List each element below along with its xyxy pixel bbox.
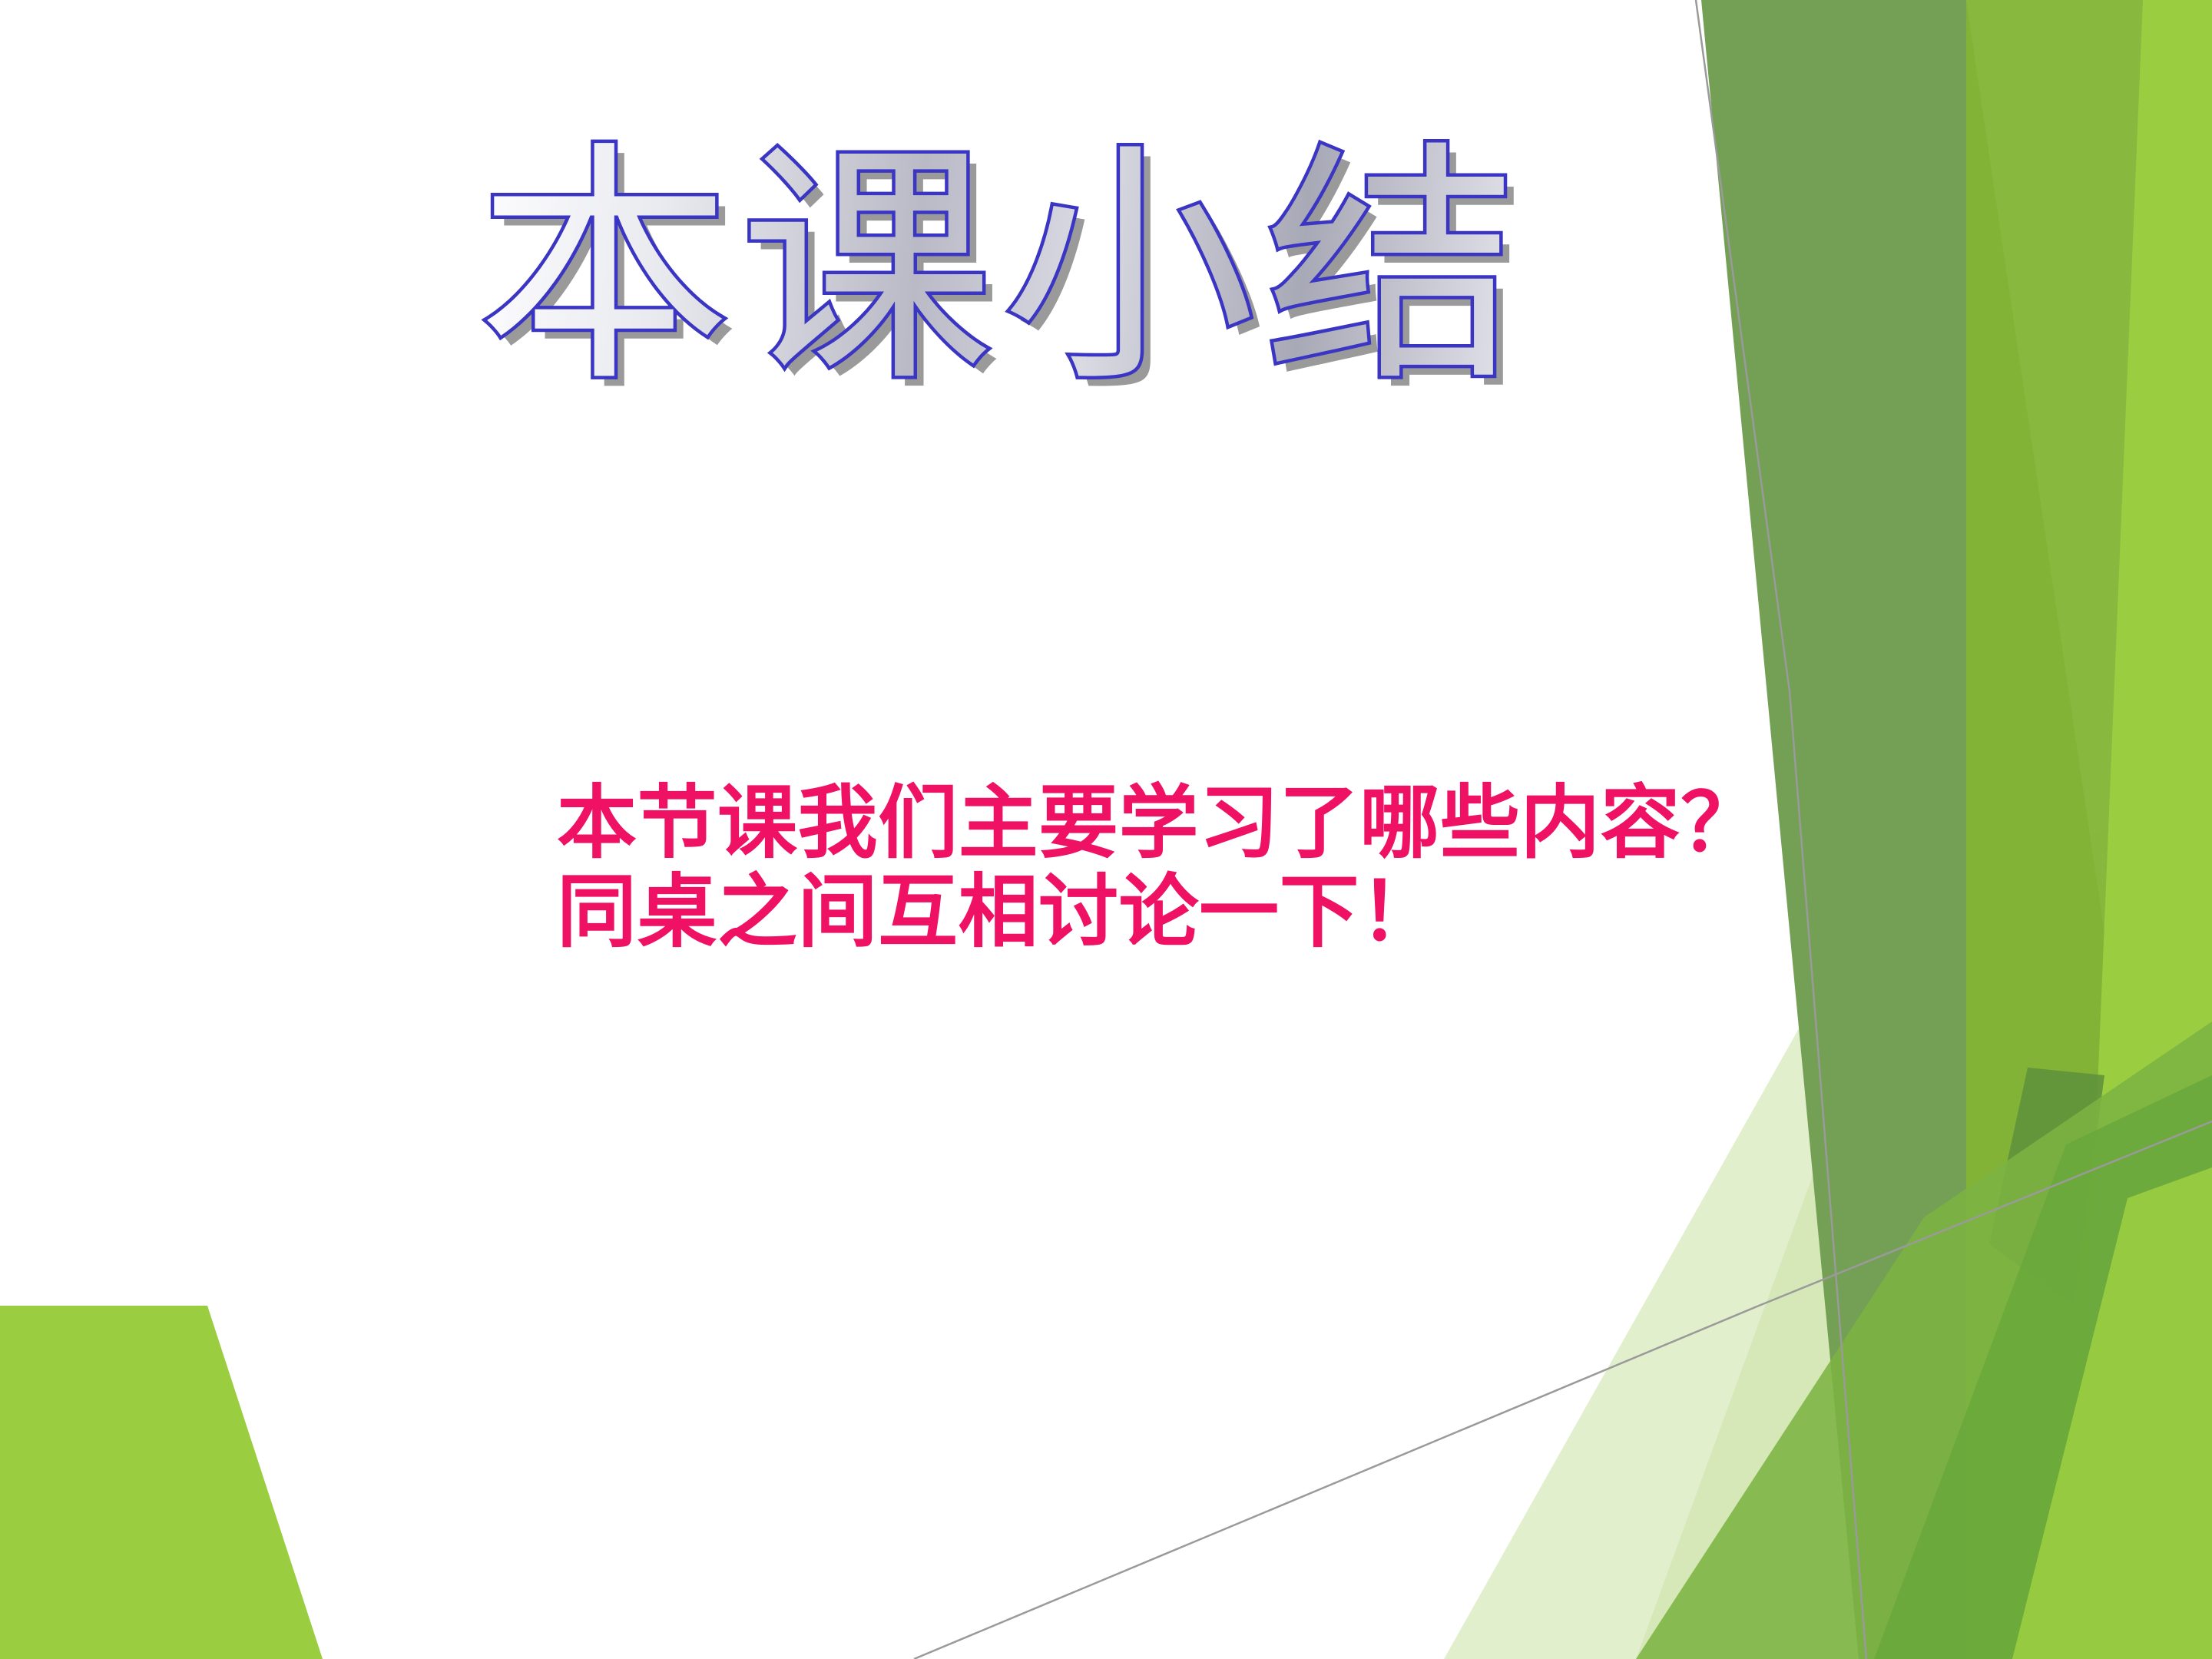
slide-canvas: 本课小结 本课小结 本课小结 本节课我们主要学习了哪些内容？ 同桌之间互相讨论一… xyxy=(0,0,2212,1659)
top-right-dark-accent xyxy=(1989,1068,2104,1306)
bottom-right-green-wedge xyxy=(1636,1022,2212,1659)
body-text-container: 本节课我们主要学习了哪些内容？ 同桌之间互相讨论一下！ xyxy=(557,780,1863,959)
thin-diagonal-hairline-long xyxy=(914,1121,2212,1659)
title-container: 本课小结 本课小结 本课小结 xyxy=(0,134,2212,408)
bottom-right-bright-wedge xyxy=(2012,1167,2212,1659)
bottom-right-dark-wedge xyxy=(1874,1075,2212,1659)
body-line-instruction: 同桌之间互相讨论一下！ xyxy=(557,869,1863,958)
bottom-left-green-wedge xyxy=(0,1306,323,1659)
body-line-question: 本节课我们主要学习了哪些内容？ xyxy=(557,780,1863,869)
title-face-layer: 本课小结 xyxy=(478,131,1527,411)
slide-title-wordart: 本课小结 本课小结 本课小结 xyxy=(478,134,1527,408)
